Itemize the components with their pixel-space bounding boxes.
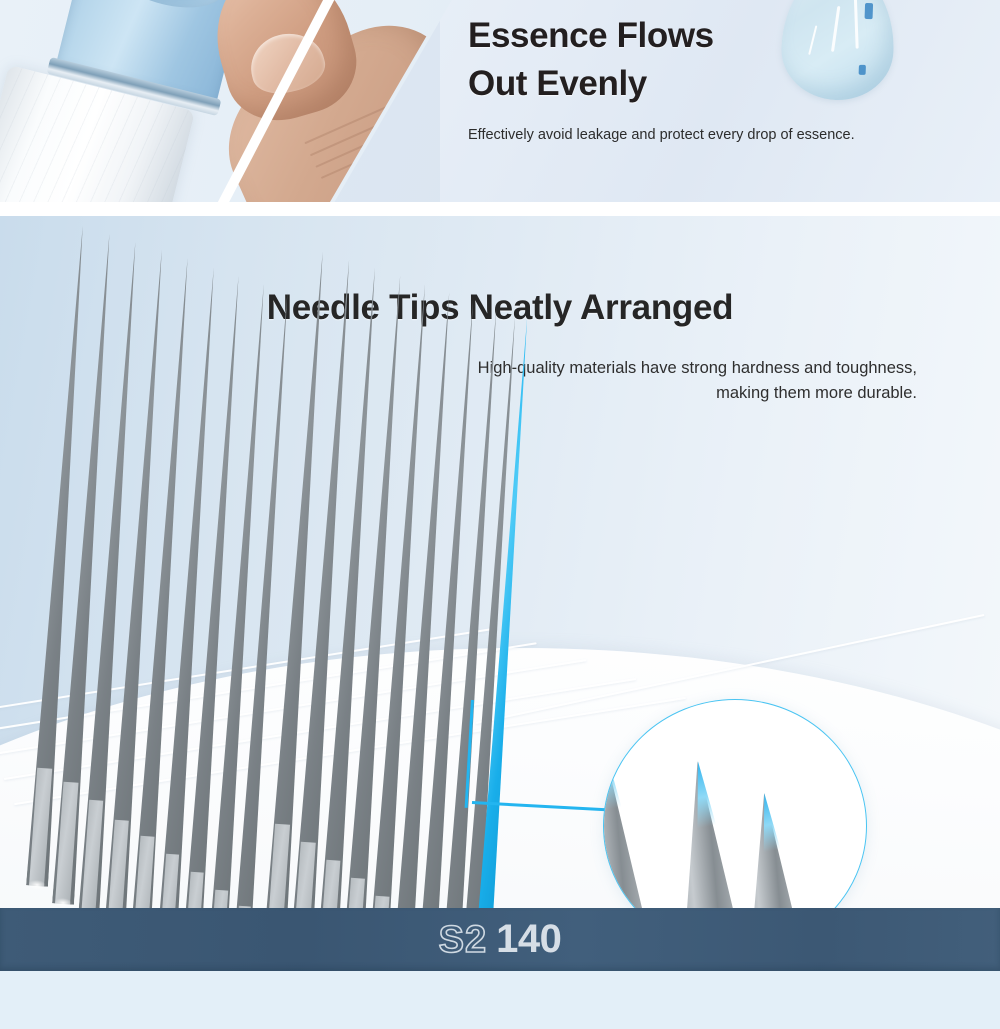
- product-feature-page: Essence Flows Out Evenly Effectively avo…: [0, 0, 1000, 1029]
- essence-title-line1: Essence Flows: [468, 16, 714, 55]
- needle-base: [209, 890, 228, 908]
- needle-base: [344, 878, 365, 908]
- footer-strip: [0, 971, 1000, 1029]
- hand-holding-bottle-photo: [0, 0, 452, 202]
- essence-title: Essence Flows Out Evenly: [468, 12, 888, 109]
- essence-flows-section: Essence Flows Out Evenly Effectively avo…: [0, 0, 1000, 202]
- essence-title-line2: Out Evenly: [468, 64, 647, 103]
- model-banner-inner: S2 140: [439, 917, 562, 962]
- model-banner: S2 140: [0, 908, 1000, 971]
- mag-needle-tip: [753, 792, 781, 852]
- section-separator: [0, 202, 1000, 216]
- model-number: 140: [496, 917, 561, 962]
- needle-glow: [54, 897, 73, 908]
- photo-inner: [0, 0, 452, 202]
- essence-subtitle: Effectively avoid leakage and protect ev…: [468, 125, 888, 147]
- needle-tips-section: Needle Tips Neatly Arranged High-quality…: [0, 216, 1000, 908]
- model-prefix: S2: [439, 919, 487, 962]
- essence-copy-block: Essence Flows Out Evenly Effectively avo…: [468, 12, 888, 146]
- needle-glow: [28, 879, 47, 890]
- needle-base: [369, 896, 390, 908]
